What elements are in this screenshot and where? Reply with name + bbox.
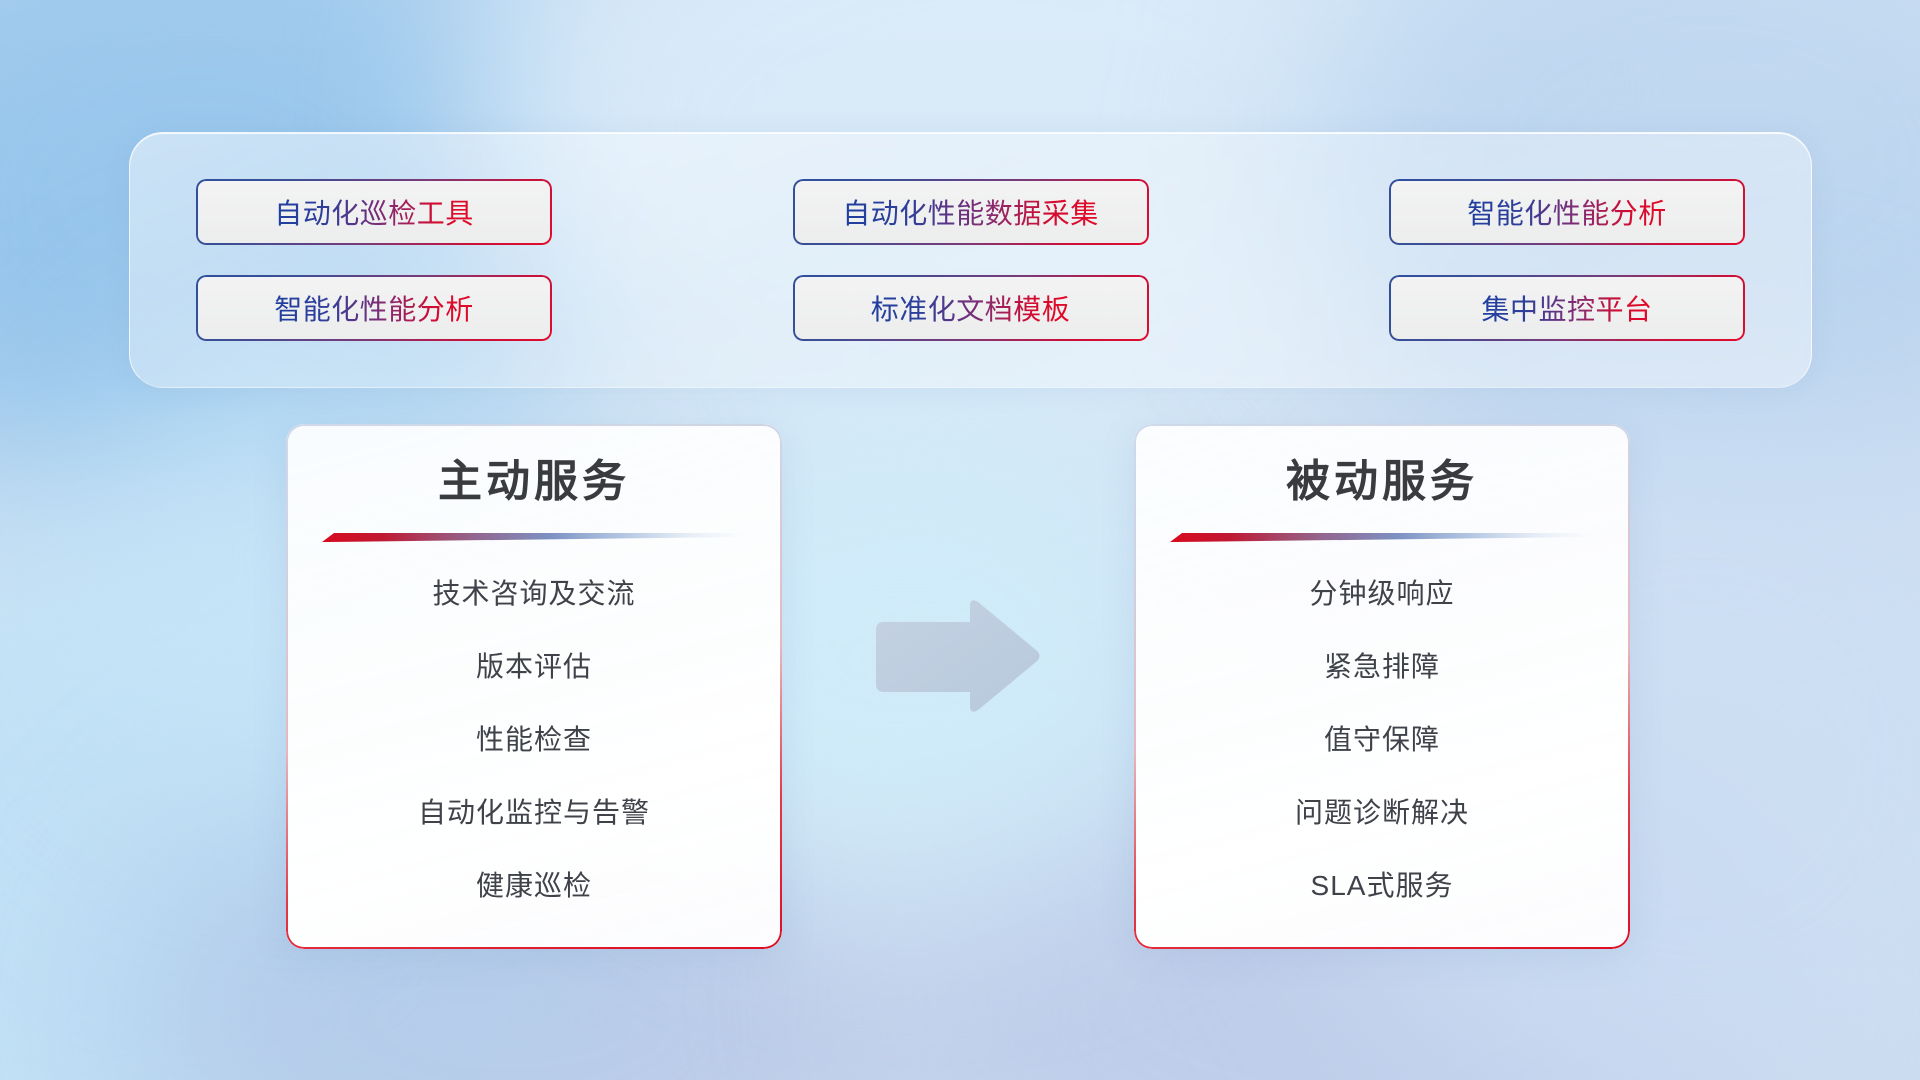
capability-pill[interactable]: 智能化性能分析	[1389, 179, 1745, 245]
service-item: 值守保障	[1324, 715, 1440, 764]
capability-pill-label: 自动化巡检工具	[274, 192, 474, 232]
capability-pill[interactable]: 自动化性能数据采集	[793, 179, 1149, 245]
service-card-passive: 被动服务 分钟级响应 紧急排障 值守保障	[1134, 424, 1630, 949]
arrow-right-icon	[874, 598, 1042, 716]
title-divider	[322, 532, 746, 543]
service-card-active: 主动服务 技术咨询及交流 版本评估 性能检查	[286, 424, 782, 949]
service-item: 紧急排障	[1324, 642, 1440, 691]
capability-pill[interactable]: 标准化文档模板	[793, 275, 1149, 341]
service-item: 健康巡检	[476, 861, 592, 910]
capability-pill[interactable]: 集中监控平台	[1389, 275, 1745, 341]
service-item: 问题诊断解决	[1295, 788, 1469, 837]
service-item: 自动化监控与告警	[418, 788, 650, 837]
service-card-title: 主动服务	[438, 458, 630, 506]
capabilities-panel: 自动化巡检工具 自动化性能数据采集 智能化性能分析 智能化性能分析 标准化文档模…	[129, 132, 1812, 388]
capability-pill[interactable]: 智能化性能分析	[196, 275, 552, 341]
title-divider	[1170, 532, 1594, 543]
capabilities-row: 自动化巡检工具 自动化性能数据采集 智能化性能分析	[196, 179, 1745, 245]
service-item: 性能检查	[476, 715, 592, 764]
capability-pill-label: 集中监控平台	[1481, 288, 1652, 328]
service-item: 版本评估	[476, 642, 592, 691]
service-item: 技术咨询及交流	[432, 569, 635, 618]
capability-pill-label: 智能化性能分析	[1467, 192, 1667, 232]
service-card-title: 被动服务	[1286, 458, 1478, 506]
capabilities-row: 智能化性能分析 标准化文档模板 集中监控平台	[196, 275, 1745, 341]
capability-pill[interactable]: 自动化巡检工具	[196, 179, 552, 245]
capability-pill-label: 标准化文档模板	[871, 288, 1071, 328]
service-item-list: 分钟级响应 紧急排障 值守保障 问题诊断解决 SLA式服务	[1162, 569, 1602, 910]
service-item: 分钟级响应	[1309, 569, 1454, 618]
capability-pill-label: 自动化性能数据采集	[842, 192, 1099, 232]
capability-pill-label: 智能化性能分析	[274, 288, 474, 328]
service-item: SLA式服务	[1311, 861, 1454, 910]
service-item-list: 技术咨询及交流 版本评估 性能检查 自动化监控与告警 健康巡检	[314, 569, 754, 910]
